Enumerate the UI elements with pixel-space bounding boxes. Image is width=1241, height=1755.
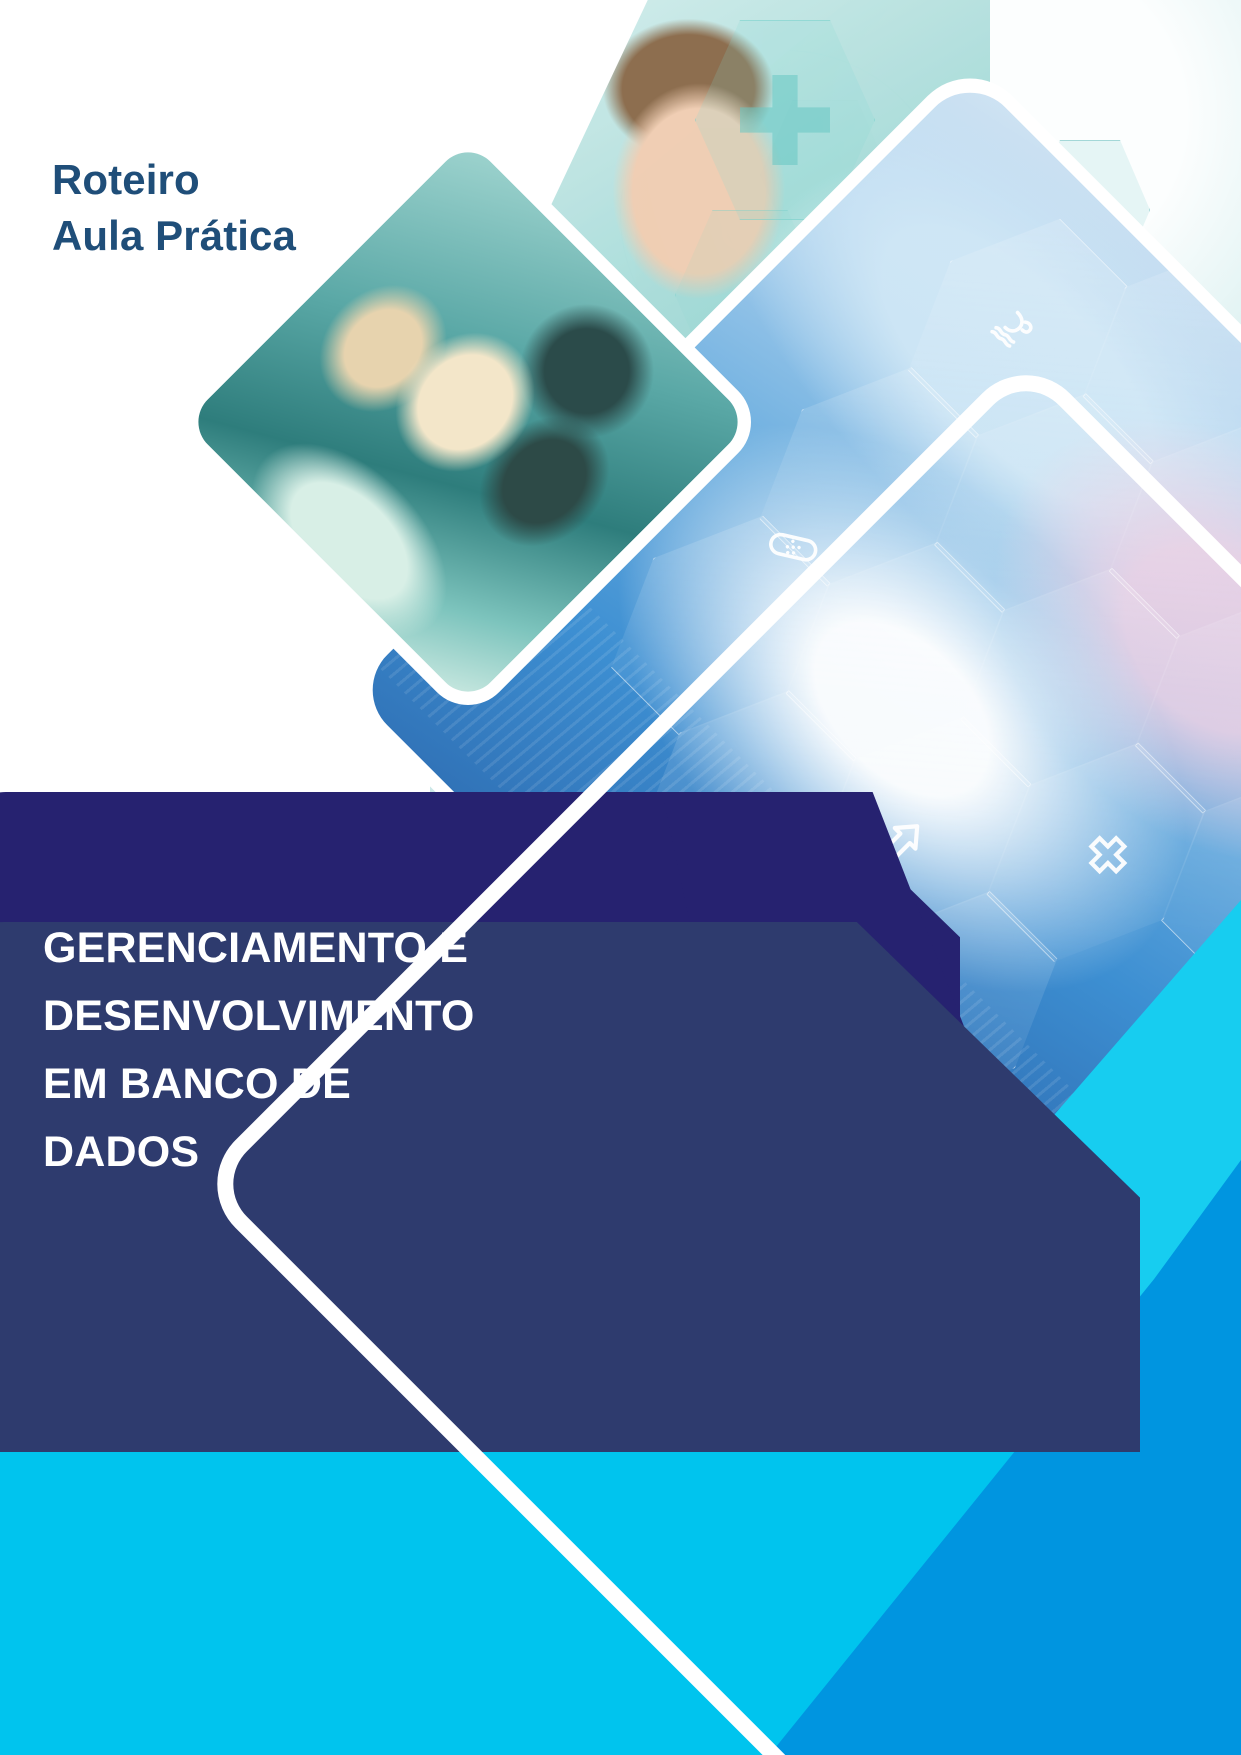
- kicker-line-2: Aula Prática: [52, 208, 472, 264]
- title-line-3: EM BANCO DE: [43, 1051, 643, 1119]
- page-title: GERENCIAMENTO E DESENVOLVIMENTO EM BANCO…: [43, 915, 643, 1187]
- title-line-2: DESENVOLVIMENTO: [43, 983, 643, 1051]
- cover-kicker: Roteiro Aula Prática: [52, 152, 472, 265]
- title-line-4: DADOS: [43, 1119, 643, 1187]
- kicker-line-1: Roteiro: [52, 152, 472, 208]
- document-cover-page: 37% in 11 mM STD%b in 48 CT32% in 11 mM …: [0, 0, 1241, 1755]
- title-line-1: GERENCIAMENTO E: [43, 915, 643, 983]
